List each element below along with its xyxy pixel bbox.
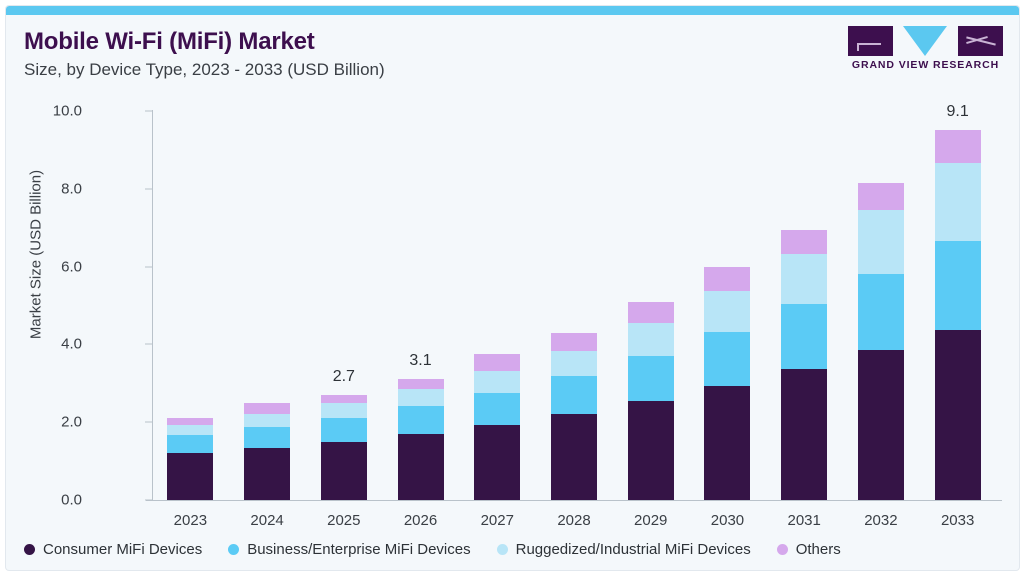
bar-segment[interactable] [858, 350, 904, 500]
bar-segment[interactable] [321, 418, 367, 443]
chart-card: Mobile Wi-Fi (MiFi) Market Size, by Devi… [6, 6, 1019, 570]
x-axis-tick-label: 2031 [769, 512, 839, 529]
x-axis-line [146, 500, 1002, 501]
bar-segment[interactable] [781, 254, 827, 305]
bar-segment[interactable] [167, 453, 213, 500]
legend-color-dot-icon [24, 544, 35, 555]
bar-segment[interactable] [474, 371, 520, 393]
bar-segment[interactable] [244, 448, 290, 500]
bar-stack[interactable] [628, 302, 674, 500]
bar-segment[interactable] [704, 267, 750, 291]
bar-segment[interactable] [244, 403, 290, 415]
bar-segment[interactable] [858, 183, 904, 210]
legend-item-label: Consumer MiFi Devices [43, 541, 202, 558]
bar-segment[interactable] [244, 427, 290, 448]
bar-segment[interactable] [551, 333, 597, 351]
bar-segment[interactable] [781, 230, 827, 254]
legend-item[interactable]: Others [777, 541, 841, 558]
bar-stack[interactable] [398, 379, 444, 500]
bar-segment[interactable] [935, 330, 981, 500]
x-axis-tick-label: 2026 [386, 512, 456, 529]
bar-stack[interactable] [935, 130, 981, 500]
legend-color-dot-icon [497, 544, 508, 555]
bar-segment[interactable] [704, 386, 750, 500]
bar-segment[interactable] [398, 379, 444, 389]
bar-segment[interactable] [781, 369, 827, 500]
legend-item-label: Ruggedized/Industrial MiFi Devices [516, 541, 751, 558]
y-axis-tick-label: 8.0 [20, 180, 82, 197]
bar-segment[interactable] [781, 304, 827, 368]
y-axis-tick-mark [145, 266, 152, 267]
x-axis-tick-label: 2027 [462, 512, 532, 529]
y-axis-tick-label: 0.0 [20, 492, 82, 509]
bar-segment[interactable] [628, 323, 674, 355]
bar-stack[interactable] [704, 267, 750, 500]
bar-stack[interactable] [244, 403, 290, 500]
bar-stack[interactable] [167, 418, 213, 500]
bar-segment[interactable] [398, 434, 444, 500]
bar-segment[interactable] [321, 442, 367, 500]
bar-segment[interactable] [244, 414, 290, 426]
bar-segment[interactable] [321, 403, 367, 417]
x-axis-tick-label: 2028 [539, 512, 609, 529]
y-axis-line [152, 110, 153, 501]
bar-segment[interactable] [398, 406, 444, 434]
x-axis-tick-label: 2023 [155, 512, 225, 529]
bar-value-label: 2.7 [314, 368, 374, 386]
y-axis-tick-mark [145, 111, 152, 112]
bar-stack[interactable] [781, 230, 827, 500]
x-axis-tick-label: 2029 [616, 512, 686, 529]
bar-segment[interactable] [704, 332, 750, 386]
bar-value-label: 9.1 [928, 103, 988, 121]
bar-stack[interactable] [474, 354, 520, 500]
bar-segment[interactable] [551, 376, 597, 414]
bar-value-label: 3.1 [391, 352, 451, 370]
y-axis-tick-label: 2.0 [20, 414, 82, 431]
bar-segment[interactable] [551, 414, 597, 500]
bar-segment[interactable] [398, 389, 444, 406]
bar-segment[interactable] [167, 418, 213, 425]
bar-segment[interactable] [628, 302, 674, 324]
legend-item-label: Others [796, 541, 841, 558]
bar-segment[interactable] [858, 210, 904, 274]
bar-segment[interactable] [321, 395, 367, 403]
bar-segment[interactable] [167, 435, 213, 453]
y-axis-tick-mark [145, 500, 152, 501]
bar-segment[interactable] [935, 241, 981, 330]
y-axis-tick-mark [145, 344, 152, 345]
chart-plot-area: Market Size (USD Billion) 0.02.04.06.08.… [6, 6, 1019, 570]
y-axis-tick-label: 4.0 [20, 336, 82, 353]
bar-segment[interactable] [474, 393, 520, 425]
x-axis-tick-label: 2030 [692, 512, 762, 529]
legend-item[interactable]: Business/Enterprise MiFi Devices [228, 541, 470, 558]
bar-stack[interactable] [858, 183, 904, 500]
legend-item[interactable]: Consumer MiFi Devices [24, 541, 202, 558]
x-axis-tick-label: 2032 [846, 512, 916, 529]
bar-segment[interactable] [628, 401, 674, 500]
bar-segment[interactable] [474, 354, 520, 371]
y-axis-tick-label: 6.0 [20, 258, 82, 275]
chart-legend: Consumer MiFi DevicesBusiness/Enterprise… [24, 541, 867, 558]
bar-segment[interactable] [628, 356, 674, 402]
legend-item[interactable]: Ruggedized/Industrial MiFi Devices [497, 541, 751, 558]
y-axis-tick-mark [145, 422, 152, 423]
x-axis-tick-label: 2025 [309, 512, 379, 529]
y-axis-tick-label: 10.0 [20, 103, 82, 120]
legend-color-dot-icon [228, 544, 239, 555]
legend-color-dot-icon [777, 544, 788, 555]
bar-segment[interactable] [935, 130, 981, 163]
x-axis-tick-label: 2024 [232, 512, 302, 529]
bar-segment[interactable] [167, 425, 213, 435]
bar-segment[interactable] [935, 163, 981, 241]
bar-segment[interactable] [474, 425, 520, 500]
bar-stack[interactable] [321, 395, 367, 500]
legend-item-label: Business/Enterprise MiFi Devices [247, 541, 470, 558]
y-axis-tick-mark [145, 188, 152, 189]
y-axis-label: Market Size (USD Billion) [28, 95, 45, 415]
bar-segment[interactable] [551, 351, 597, 376]
bar-segment[interactable] [858, 274, 904, 350]
bar-stack[interactable] [551, 333, 597, 500]
bar-segment[interactable] [704, 291, 750, 333]
x-axis-tick-label: 2033 [923, 512, 993, 529]
